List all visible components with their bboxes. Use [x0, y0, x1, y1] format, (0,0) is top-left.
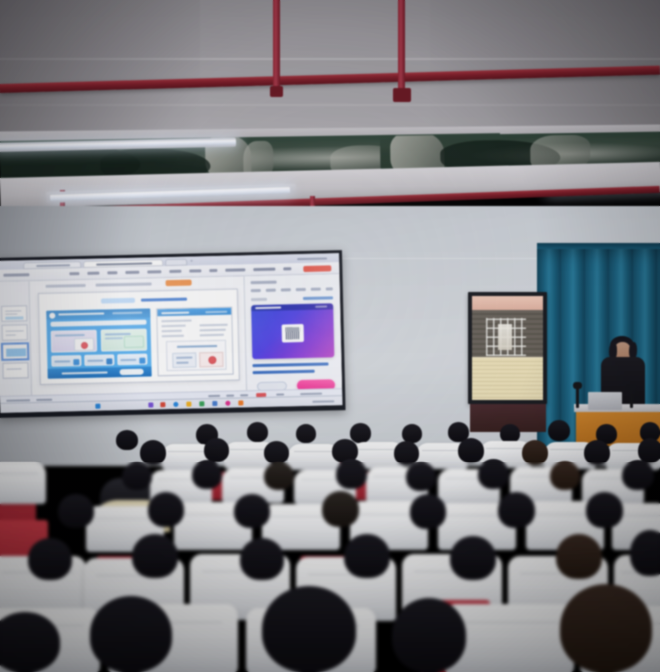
audience-head — [296, 424, 316, 443]
audience-head — [406, 462, 436, 491]
audience-head — [550, 461, 580, 490]
audience-head — [234, 494, 270, 528]
audience-head — [322, 491, 359, 527]
audience-head — [140, 440, 166, 465]
audience-head — [586, 492, 623, 528]
audience-head — [264, 441, 289, 464]
audience-head — [58, 494, 94, 528]
audience-head — [344, 534, 390, 578]
audience-head — [556, 534, 602, 579]
audience-head-foreground — [560, 584, 652, 672]
audience-head — [122, 462, 152, 490]
audience-head — [148, 492, 184, 527]
lecture-hall-photo: + — [0, 0, 660, 672]
audience-head — [264, 462, 294, 490]
audience-head — [548, 420, 570, 441]
audience-head — [132, 534, 178, 578]
audience-head — [116, 430, 138, 450]
audience-head-foreground — [392, 598, 466, 672]
audience-head — [622, 460, 654, 490]
audience-head — [240, 538, 284, 580]
audience-head-foreground — [262, 586, 356, 672]
audience-head — [450, 536, 496, 580]
audience-head — [394, 441, 419, 465]
audience-head-foreground — [0, 612, 60, 672]
audience-head — [192, 460, 222, 489]
audience-head — [28, 538, 72, 580]
audience-head — [478, 459, 509, 489]
audience-head — [458, 438, 484, 463]
audience-head — [204, 438, 229, 462]
audience-head — [410, 494, 446, 529]
audience-head — [350, 423, 371, 443]
audience-head — [498, 492, 535, 528]
audience-head-foreground — [90, 596, 172, 672]
audience-head — [522, 440, 548, 465]
audience-head — [630, 530, 660, 576]
audience-head — [584, 440, 610, 465]
audience-head — [638, 438, 660, 463]
audience — [0, 0, 660, 672]
seat — [0, 462, 46, 504]
audience-head — [336, 459, 367, 489]
audience-head — [247, 422, 268, 442]
